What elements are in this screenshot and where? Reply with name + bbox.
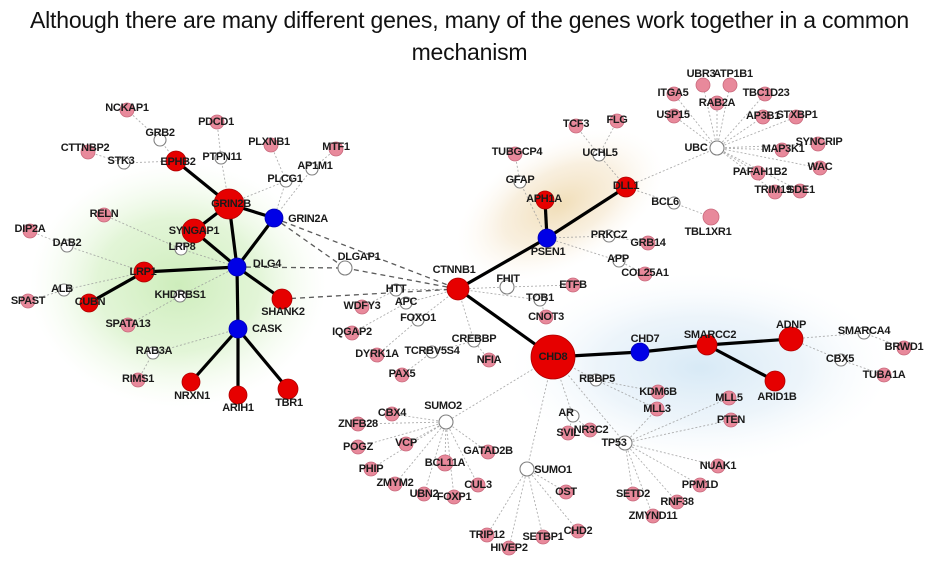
gene-label-sumo2: SUMO2 <box>424 400 462 412</box>
gene-label-arih1: ARIH1 <box>222 402 254 414</box>
gene-label-dll1: DLL1 <box>613 180 639 192</box>
gene-label-layer: NCKAP1GRB2CTTNBP2STK3EPHB2PDCD1PTPN11PLX… <box>0 0 939 568</box>
gene-label-tbc1d23: TBC1D23 <box>743 87 790 99</box>
gene-label-syngap1: SYNGAP1 <box>169 225 219 237</box>
gene-label-cul3: CUL3 <box>464 479 492 491</box>
gene-label-wac: WAC <box>808 161 833 173</box>
gene-label-tubgcp4: TUBGCP4 <box>492 146 542 158</box>
gene-label-arid1b: ARID1B <box>757 391 796 403</box>
gene-label-ptpn11: PTPN11 <box>202 151 241 163</box>
gene-label-nfia: NFIA <box>477 354 501 366</box>
gene-label-pogz: POGZ <box>343 441 373 453</box>
gene-label-apc: APC <box>395 296 417 308</box>
gene-label-map3k1: MAP3K1 <box>762 143 805 155</box>
gene-label-pax5: PAX5 <box>389 368 416 380</box>
gene-label-alb: ALB <box>51 283 73 295</box>
gene-label-tcrbv5s4: TCRBV5S4 <box>404 345 459 357</box>
gene-label-ubc: UBC <box>685 142 708 154</box>
gene-label-pafah1b2: PAFAH1B2 <box>733 166 787 178</box>
gene-label-syncrip: SYNCRIP <box>796 136 843 148</box>
gene-label-pdcd1: PDCD1 <box>198 116 234 128</box>
gene-label-hivep2: HIVEP2 <box>490 542 527 554</box>
gene-label-nuak1: NUAK1 <box>700 460 736 472</box>
gene-label-tp53: TP53 <box>601 437 626 449</box>
gene-label-ar: AR <box>558 407 573 419</box>
gene-label-ppm1d: PPM1D <box>682 479 718 491</box>
gene-label-sde1: SDE1 <box>787 184 815 196</box>
gene-label-htt: HTT <box>386 283 406 295</box>
gene-label-tuba1a: TUBA1A <box>863 369 906 381</box>
gene-label-rab3a: RAB3A <box>136 345 172 357</box>
gene-label-dip2a: DIP2A <box>15 223 46 235</box>
gene-label-itga5: ITGA5 <box>658 87 689 99</box>
gene-label-mll5: MLL5 <box>715 392 743 404</box>
gene-label-trip12: TRIP12 <box>469 529 505 541</box>
gene-label-gfap: GFAP <box>506 174 535 186</box>
gene-label-kdm6b: KDM6B <box>639 386 677 398</box>
gene-label-zmynd11: ZMYND11 <box>629 510 678 522</box>
gene-label-cubn: CUBN <box>75 296 106 308</box>
network-diagram-page: Although there are many different genes,… <box>0 0 939 568</box>
gene-label-lrp8: LRP8 <box>169 241 196 253</box>
gene-label-prkcz: PRKCZ <box>591 229 627 241</box>
gene-label-bcl6: BCL6 <box>651 196 679 208</box>
gene-label-dab2: DAB2 <box>53 237 82 249</box>
gene-label-pten: PTEN <box>717 414 745 426</box>
gene-label-nr3c2: NR3C2 <box>574 424 609 436</box>
gene-label-rims1: RIMS1 <box>122 373 154 385</box>
gene-label-adnp: ADNP <box>776 319 806 331</box>
gene-label-ctnnb1: CTNNB1 <box>433 264 476 276</box>
gene-label-crebbp: CREBBP <box>452 333 497 345</box>
gene-label-plxnb1: PLXNB1 <box>248 136 290 148</box>
gene-label-setd2: SETD2 <box>616 488 650 500</box>
gene-label-cbx5: CBX5 <box>826 353 854 365</box>
gene-label-foxp1: FOXP1 <box>437 491 472 503</box>
gene-label-mtf1: MTF1 <box>322 141 350 153</box>
gene-label-mll3: MLL3 <box>643 403 671 415</box>
gene-label-rab2a: RAB2A <box>699 97 735 109</box>
gene-label-znfb28: ZNFB28 <box>338 418 378 430</box>
gene-label-uchl5: UCHL5 <box>582 147 617 159</box>
gene-label-dyrk1a: DYRK1A <box>355 348 398 360</box>
gene-label-smarcc2: SMARCC2 <box>684 329 736 341</box>
gene-label-chd7: CHD7 <box>631 333 660 345</box>
gene-label-smarca4: SMARCA4 <box>838 325 890 337</box>
gene-label-cnot3: CNOT3 <box>528 311 564 323</box>
gene-label-stk3: STK3 <box>108 155 135 167</box>
gene-label-phip: PHIP <box>359 463 383 475</box>
gene-label-trim19: TRIM19 <box>754 184 791 196</box>
gene-label-khdrbs1: KHDRBS1 <box>154 289 205 301</box>
gene-label-etfb: ETFB <box>559 279 587 291</box>
gene-label-sumo1: SUMO1 <box>534 464 572 476</box>
gene-label-chd8: CHD8 <box>539 351 568 363</box>
gene-label-vcp: VCP <box>395 437 417 449</box>
gene-label-tob1: TOB1 <box>526 292 554 304</box>
gene-label-atp1b1: ATP1B1 <box>713 68 753 80</box>
gene-label-svil: SVIL <box>556 427 579 439</box>
gene-label-grin2b: GRIN2B <box>211 198 251 210</box>
gene-label-ap1m1: AP1M1 <box>297 160 332 172</box>
gene-label-tbl1xr1: TBL1XR1 <box>685 226 732 238</box>
gene-label-tbr1: TBR1 <box>275 397 303 409</box>
gene-label-brwd1: BRWD1 <box>885 341 924 353</box>
gene-label-nckap1: NCKAP1 <box>105 102 148 114</box>
gene-label-cask: CASK <box>252 323 282 335</box>
gene-label-shank2: SHANK2 <box>261 306 304 318</box>
gene-label-ap3b1: AP3B1 <box>746 110 780 122</box>
gene-label-grb14: GRB14 <box>630 237 665 249</box>
gene-label-iqgap2: IQGAP2 <box>332 326 372 338</box>
gene-label-lrp1: LRP1 <box>130 266 157 278</box>
gene-label-spata13: SPATA13 <box>106 318 151 330</box>
gene-label-cbx4: CBX4 <box>378 407 406 419</box>
gene-label-psen1: PSEN1 <box>531 246 566 258</box>
gene-label-ost: OST <box>555 486 577 498</box>
gene-label-dlgap1: DLGAP1 <box>338 251 381 263</box>
gene-label-rbbp5: RBBP5 <box>579 373 615 385</box>
gene-label-grb2: GRB2 <box>145 127 174 139</box>
gene-label-wdfy3: WDFY3 <box>343 300 380 312</box>
gene-label-plcg1: PLCG1 <box>267 173 302 185</box>
gene-label-zmym2: ZMYM2 <box>376 477 413 489</box>
gene-label-ephb2: EPHB2 <box>160 156 195 168</box>
gene-label-nrxn1: NRXN1 <box>174 390 210 402</box>
gene-label-dlg4: DLG4 <box>253 258 281 270</box>
gene-label-chd2: CHD2 <box>564 525 593 537</box>
gene-label-usp15: USP15 <box>656 109 689 121</box>
gene-label-gatad2b: GATAD2B <box>463 445 512 457</box>
gene-label-tcf3: TCF3 <box>563 118 589 130</box>
gene-label-aph1a: APH1A <box>526 193 562 205</box>
gene-label-app: APP <box>607 253 629 265</box>
gene-label-cttnbp2: CTTNBP2 <box>61 142 110 154</box>
gene-label-bcl11a: BCL11A <box>425 457 465 469</box>
gene-label-col25a1: COL25A1 <box>621 267 668 279</box>
gene-label-setbp1: SETBP1 <box>523 531 564 543</box>
gene-label-ubn2: UBN2 <box>410 488 439 500</box>
gene-label-stxbp1: STXBP1 <box>777 109 818 121</box>
gene-label-foxo1: FOXO1 <box>400 312 436 324</box>
gene-label-flg: FLG <box>606 114 627 126</box>
gene-label-fhit: FHIT <box>496 273 519 285</box>
gene-label-spast: SPAST <box>11 295 45 307</box>
gene-label-reln: RELN <box>90 208 119 220</box>
gene-label-ubr3: UBR3 <box>687 68 716 80</box>
gene-label-grin2a: GRIN2A <box>288 213 328 225</box>
gene-label-rnf38: RNF38 <box>660 496 693 508</box>
